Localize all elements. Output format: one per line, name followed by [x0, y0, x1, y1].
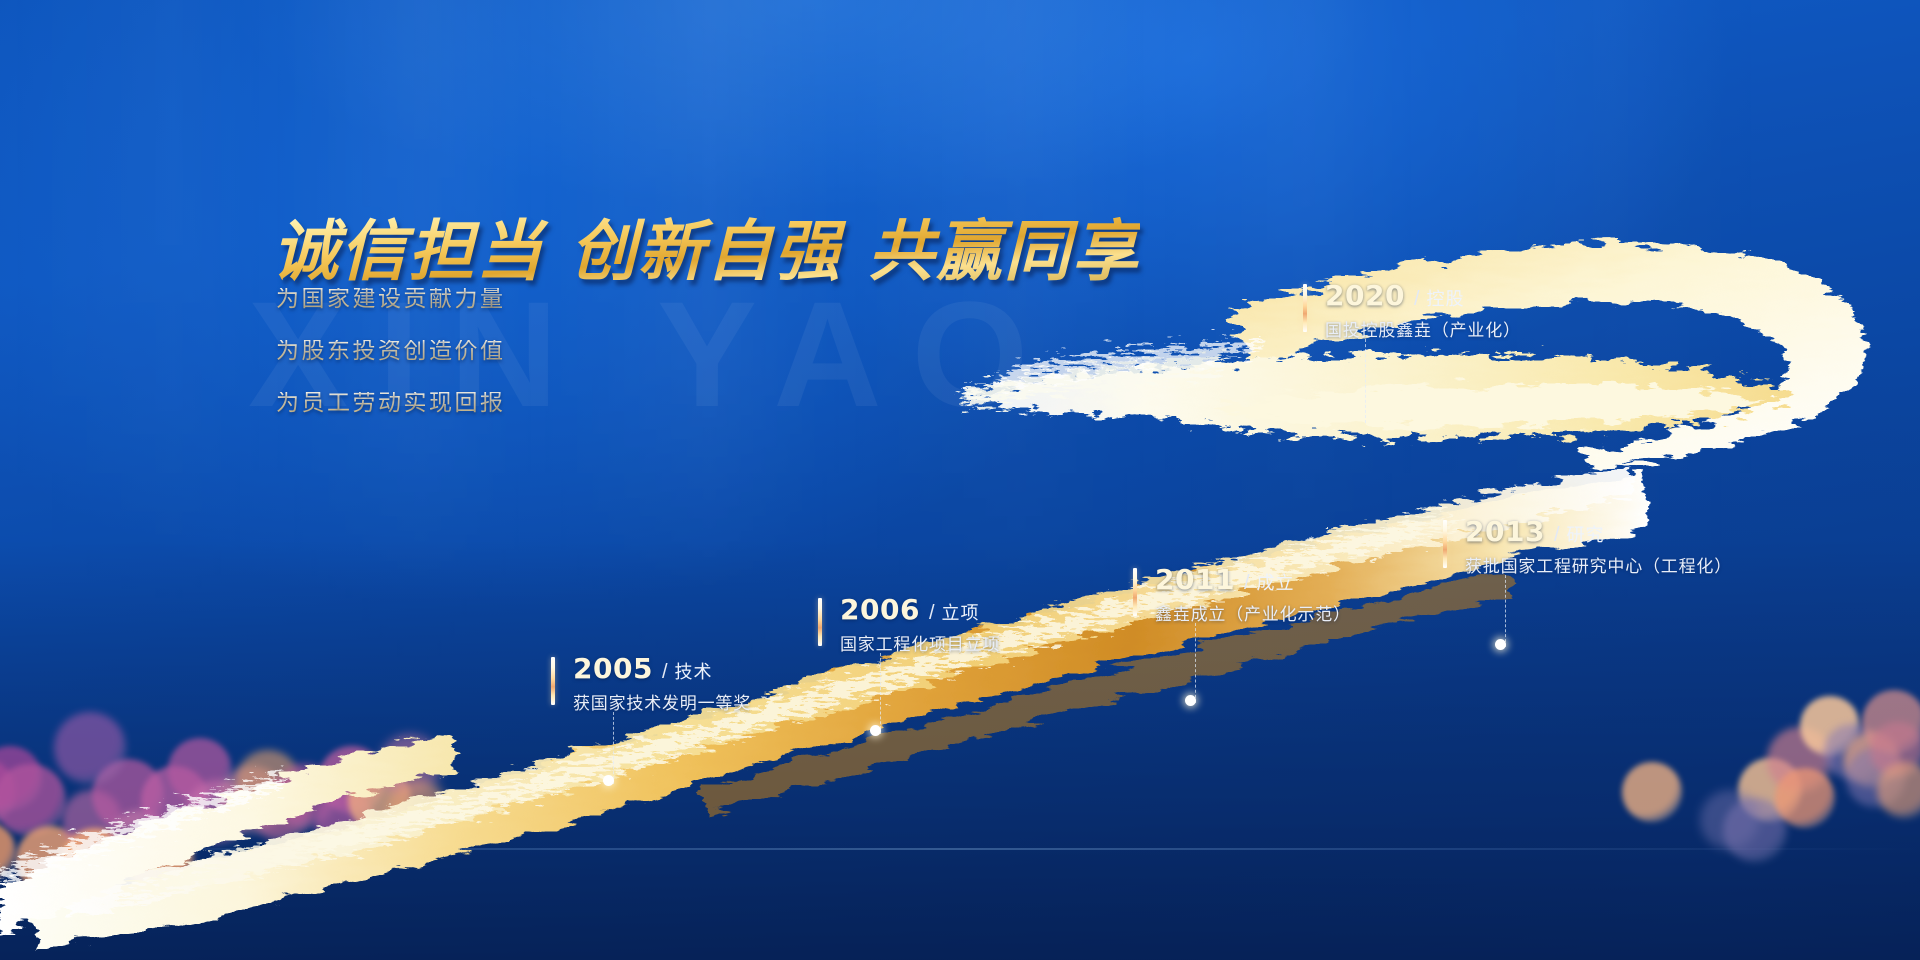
milestone-description: 获批国家工程研究中心（工程化）	[1465, 559, 1732, 576]
timeline-dot	[603, 775, 614, 786]
timeline-dot	[870, 725, 881, 736]
milestone-separator: /	[1554, 525, 1560, 545]
milestone-accent-bar	[551, 657, 555, 705]
milestone-description: 国投控股鑫垚（产业化）	[1325, 323, 1521, 340]
milestone-description: 鑫垚成立（产业化示范）	[1155, 607, 1351, 624]
timeline-milestone-2020[interactable]: 2020/控股国投控股鑫垚（产业化）	[1303, 282, 1521, 340]
milestone-year: 2013	[1465, 518, 1545, 546]
milestone-year: 2011	[1155, 566, 1235, 594]
milestone-tag: 控股	[1427, 291, 1465, 309]
milestone-accent-bar	[818, 598, 822, 646]
brush-ribbon	[0, 0, 1920, 960]
timeline-leader-line	[1195, 623, 1196, 703]
mission-line: 为员工劳动实现回报	[276, 392, 506, 415]
headline-part-2: 创新自强	[570, 213, 842, 290]
headline-part-3: 共赢同享	[868, 213, 1140, 290]
timeline-milestone-2011[interactable]: 2011/成立鑫垚成立（产业化示范）	[1133, 566, 1351, 624]
timeline-leader-line	[1505, 575, 1506, 647]
milestone-tag: 成立	[1257, 575, 1295, 593]
mission-line: 为股东投资创造价值	[276, 340, 506, 363]
milestone-description: 国家工程化项目立项	[840, 637, 1000, 654]
milestone-tag: 技术	[675, 664, 713, 682]
milestone-separator: /	[1414, 289, 1420, 309]
milestone-year: 2005	[573, 655, 653, 683]
milestone-tag: 研究	[1567, 527, 1605, 545]
milestone-accent-bar	[1443, 520, 1447, 568]
mission-statements: 为国家建设贡献力量 为股东投资创造价值 为员工劳动实现回报	[276, 288, 506, 444]
milestone-tag: 立项	[942, 605, 980, 623]
page-title: 诚信担当创新自强共赢同享	[272, 198, 1140, 294]
milestone-separator: /	[929, 603, 935, 623]
milestone-accent-bar	[1303, 284, 1307, 332]
banner-canvas: XIN YAO 诚信担当创新自强共赢同享 为国家建设贡献力量 为股东投资创造价值…	[0, 0, 1920, 960]
timeline-leader-line	[1365, 339, 1366, 423]
timeline-milestone-2005[interactable]: 2005/技术获国家技术发明一等奖	[551, 655, 751, 713]
timeline-dot	[1185, 695, 1196, 706]
headline-part-1: 诚信担当	[272, 213, 544, 290]
milestone-description: 获国家技术发明一等奖	[573, 696, 751, 713]
timeline-leader-line	[880, 653, 881, 734]
mission-line: 为国家建设贡献力量	[276, 288, 506, 311]
timeline-leader-line	[613, 712, 614, 784]
milestone-accent-bar	[1133, 568, 1137, 616]
milestone-year: 2006	[840, 596, 920, 624]
milestone-year: 2020	[1325, 282, 1405, 310]
milestone-separator: /	[662, 662, 668, 682]
timeline-dot	[1495, 639, 1506, 650]
timeline-milestone-2006[interactable]: 2006/立项国家工程化项目立项	[818, 596, 1000, 654]
milestone-separator: /	[1244, 573, 1250, 593]
timeline-milestone-2013[interactable]: 2013/研究获批国家工程研究中心（工程化）	[1443, 518, 1732, 576]
